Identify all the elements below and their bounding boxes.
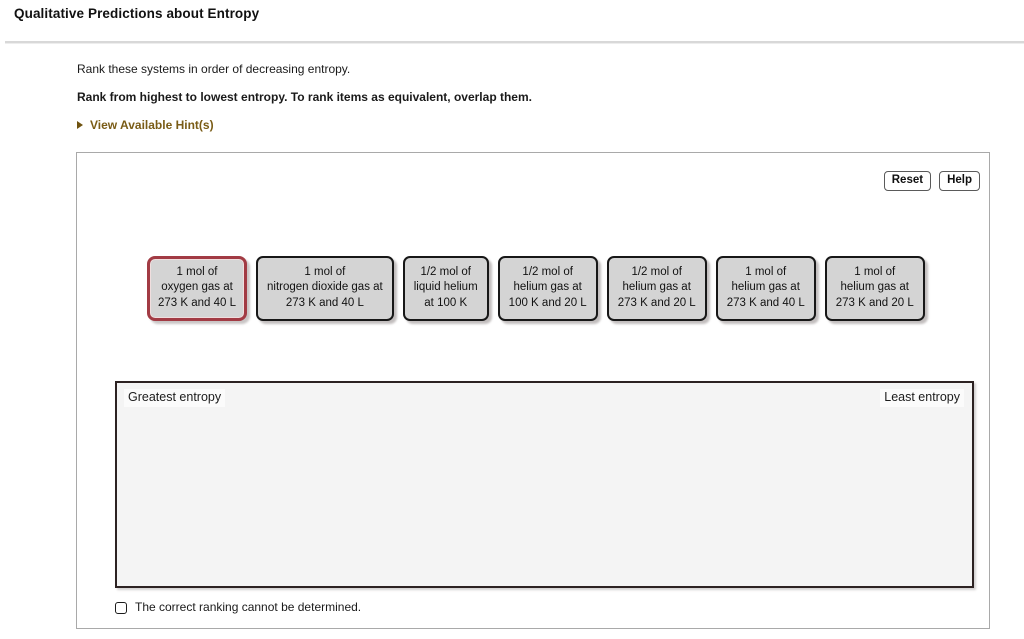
prompt-area: Rank these systems in order of decreasin… [77, 61, 987, 132]
header-divider [5, 41, 1024, 44]
answer-panel: Reset Help 1 mol ofoxygen gas at273 K an… [76, 152, 990, 629]
item-card-line: 273 K and 20 L [618, 296, 696, 311]
item-card-line: liquid helium [414, 280, 478, 295]
item-card-line: 1 mol of [727, 265, 805, 280]
item-card[interactable]: 1 mol ofoxygen gas at273 K and 40 L [147, 256, 247, 321]
item-card-line: helium gas at [836, 280, 914, 295]
view-hints-label: View Available Hint(s) [90, 118, 214, 132]
item-card-line: 273 K and 40 L [267, 296, 383, 311]
ranking-bin[interactable]: Greatest entropy Least entropy [115, 381, 974, 588]
item-card-line: 1/2 mol of [509, 265, 587, 280]
item-card-line: 273 K and 40 L [158, 296, 236, 311]
bin-label-greatest: Greatest entropy [124, 389, 225, 407]
bin-label-least: Least entropy [880, 389, 964, 407]
item-card-line: 273 K and 40 L [727, 296, 805, 311]
item-card[interactable]: 1 mol ofhelium gas at273 K and 20 L [825, 256, 925, 321]
cannot-determine-checkbox[interactable] [115, 602, 127, 614]
reset-button[interactable]: Reset [884, 171, 931, 191]
help-button[interactable]: Help [939, 171, 980, 191]
item-card[interactable]: 1 mol ofnitrogen dioxide gas at273 K and… [256, 256, 394, 321]
directive-text: Rank from highest to lowest entropy. To … [77, 89, 987, 106]
item-card-line: helium gas at [618, 280, 696, 295]
triangle-right-icon [77, 121, 83, 129]
instruction-text: Rank these systems in order of decreasin… [77, 61, 987, 78]
item-card-line: 1 mol of [158, 265, 236, 280]
item-tray: 1 mol ofoxygen gas at273 K and 40 L1 mol… [147, 256, 925, 321]
item-card-line: 1/2 mol of [414, 265, 478, 280]
item-card-line: helium gas at [509, 280, 587, 295]
item-card-line: 1/2 mol of [618, 265, 696, 280]
item-card-line: nitrogen dioxide gas at [267, 280, 383, 295]
view-hints-toggle[interactable]: View Available Hint(s) [77, 118, 214, 132]
item-card-line: helium gas at [727, 280, 805, 295]
item-card-line: 1 mol of [836, 265, 914, 280]
item-card-line: at 100 K [414, 296, 478, 311]
item-card-line: oxygen gas at [158, 280, 236, 295]
cannot-determine-label: The correct ranking cannot be determined… [135, 600, 361, 615]
panel-toolbar: Reset Help [884, 171, 980, 191]
cannot-determine-row: The correct ranking cannot be determined… [115, 600, 361, 615]
item-card[interactable]: 1/2 mol ofhelium gas at273 K and 20 L [607, 256, 707, 321]
item-card-line: 1 mol of [267, 265, 383, 280]
item-card[interactable]: 1/2 mol ofliquid heliumat 100 K [403, 256, 489, 321]
item-card[interactable]: 1/2 mol ofhelium gas at100 K and 20 L [498, 256, 598, 321]
item-card-line: 273 K and 20 L [836, 296, 914, 311]
item-card-line: 100 K and 20 L [509, 296, 587, 311]
page-title: Qualitative Predictions about Entropy [14, 6, 259, 21]
item-card[interactable]: 1 mol ofhelium gas at273 K and 40 L [716, 256, 816, 321]
